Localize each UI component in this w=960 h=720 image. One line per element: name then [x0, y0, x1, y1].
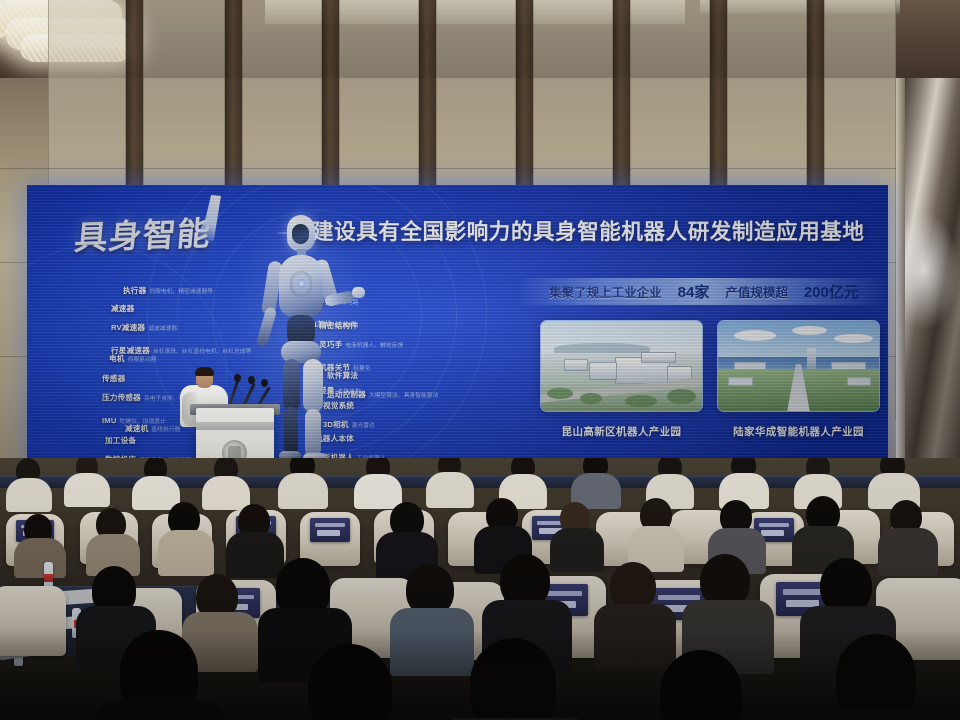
led-presentation-screen: 具身智能 建设具有全国影响力的具身智能机器人研发制造应用基地 执行器伺服电机、精… [27, 185, 888, 471]
park-card-lujia: 陆家华成智能机器人产业园 [717, 320, 880, 439]
chair [0, 586, 66, 656]
screenshot-root: 具身智能 建设具有全国影响力的具身智能机器人研发制造应用基地 执行器伺服电机、精… [0, 0, 960, 720]
seat-placard [310, 518, 350, 542]
stat-second-value: 200亿元 [804, 281, 859, 302]
metal-panel-reflection [905, 210, 960, 330]
metal-wall-frame [896, 78, 905, 498]
stat-lead-value: 84家 [678, 281, 710, 302]
microphone-head-icon [261, 379, 268, 387]
microphone-head-icon [234, 374, 241, 382]
lectern-band [196, 422, 274, 430]
park-image-lujia [717, 320, 880, 412]
wall-seam [0, 168, 960, 169]
stat-ribbon: 集聚了规上工业企业 84家 产值规模超 200亿元 [521, 278, 887, 305]
slide-logo-text: 具身智能 [73, 207, 214, 260]
stat-lead-label: 集聚了规上工业企业 [549, 282, 662, 301]
microphone-head-icon [248, 376, 255, 384]
park-caption-kunshan: 昆山高新区机器人产业园 [540, 424, 703, 439]
slide-headline: 建设具有全国影响力的具身智能机器人研发制造应用基地 [312, 215, 872, 246]
annotation-actuator: 执行器伺服电机、精密减速器等 [123, 277, 213, 300]
annotation-motor: 电机伺服驱动器 [109, 345, 157, 368]
park-card-kunshan: 昆山高新区机器人产业园 [540, 320, 703, 439]
audience-area [0, 458, 960, 720]
park-image-kunshan [540, 320, 703, 412]
park-caption-lujia: 陆家华成智能机器人产业园 [717, 424, 880, 439]
stat-second-label: 产值规模超 [725, 282, 788, 301]
